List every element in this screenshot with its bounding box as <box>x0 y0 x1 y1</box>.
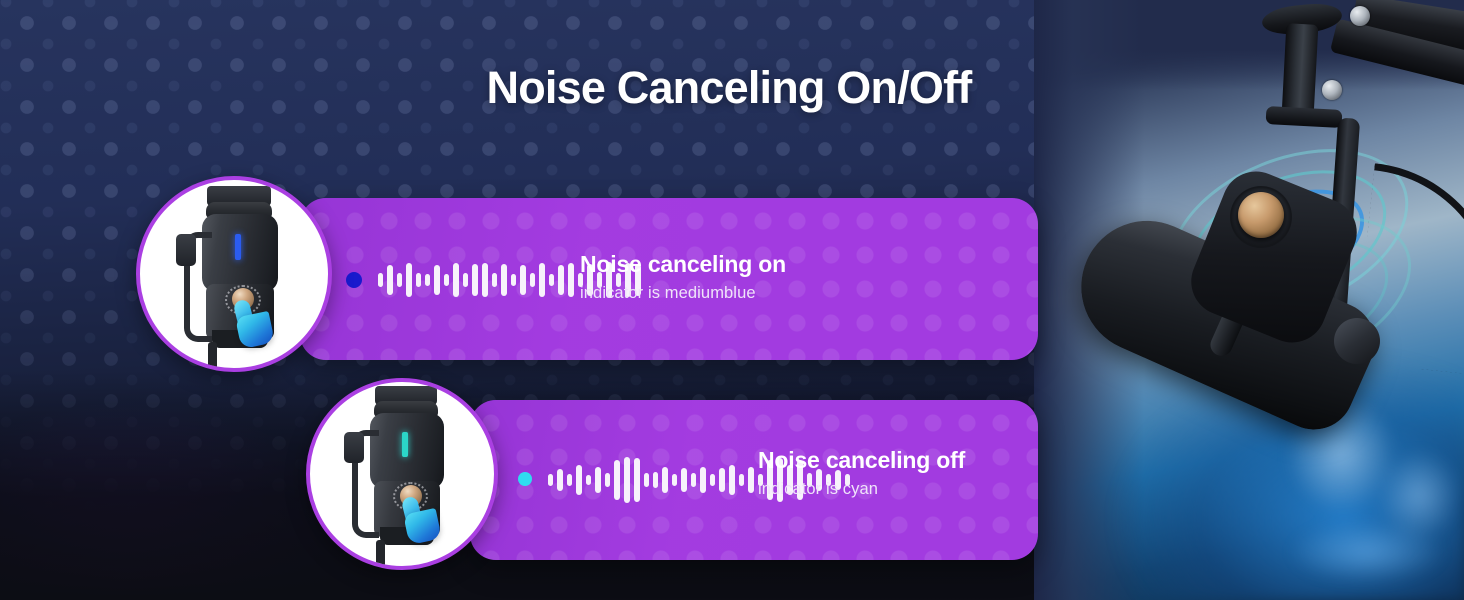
waveform-bar <box>378 273 383 287</box>
waveform-bar <box>748 467 754 493</box>
waveform-bar <box>700 467 706 493</box>
waveform-bar <box>558 265 564 295</box>
waveform-bar <box>662 467 668 493</box>
waveform-bar <box>492 273 497 287</box>
waveform-bar <box>595 467 601 493</box>
waveform-bar <box>482 263 488 297</box>
waveform-bar <box>644 473 649 487</box>
mic-led-cyan <box>402 432 408 457</box>
mic-thumb-on <box>136 176 332 372</box>
waveform-bar <box>605 473 610 487</box>
mic-thumb-off-illustration <box>310 382 494 566</box>
waveform-bar <box>586 475 591 485</box>
mic-thumb-on-illustration <box>140 180 328 368</box>
waveform-bar <box>453 263 459 297</box>
waveform-bar <box>539 263 545 297</box>
microphone-pivot-disc <box>1334 318 1380 364</box>
waveform-bar <box>567 474 572 486</box>
waveform-bar <box>614 460 620 500</box>
promo-banner: Noise Canceling On/Off Noise canceling o… <box>0 0 1464 600</box>
waveform-bar <box>397 273 402 287</box>
mic-stand-post <box>208 342 217 372</box>
waveform-bar <box>739 474 744 486</box>
waveform-bar <box>653 472 658 488</box>
waveform-bar <box>634 458 640 502</box>
sublabel-indicator-mediumblue: indicator is mediumblue <box>580 284 786 303</box>
waveform-bar <box>681 468 687 492</box>
waveform-bar <box>511 274 516 286</box>
waveform-bar <box>576 465 582 495</box>
waveform-bar <box>444 274 449 286</box>
status-dot-on <box>346 272 362 288</box>
mic-stand-post <box>376 540 385 570</box>
waveform-bar <box>530 273 535 287</box>
mic-yoke-knob <box>176 234 196 266</box>
label-noise-canceling-off: Noise canceling off <box>758 448 965 473</box>
waveform-bar <box>406 263 412 297</box>
status-dot-off <box>518 472 532 486</box>
waveform-bar <box>549 274 554 286</box>
label-noise-canceling-on: Noise canceling on <box>580 252 786 277</box>
mic-led-blue <box>235 234 241 260</box>
waveform-bar <box>557 469 563 491</box>
waveform-bar <box>729 465 735 495</box>
sublabel-indicator-cyan: indicator is cyan <box>758 480 965 499</box>
waveform-bar <box>463 273 468 287</box>
waveform-bar <box>719 468 725 492</box>
waveform-bar <box>624 457 630 503</box>
waveform-bar <box>691 473 696 487</box>
mic-yoke-knob <box>344 432 364 463</box>
waveform-bar <box>568 263 574 297</box>
waveform-bar <box>472 264 478 296</box>
waveform-bar <box>520 265 526 295</box>
waveform-bar <box>548 474 553 486</box>
text-block-off: Noise canceling off indicator is cyan <box>758 448 965 499</box>
waveform-bar <box>425 274 430 286</box>
waveform-bar <box>501 264 507 296</box>
mic-thumb-off <box>306 378 498 570</box>
microphone-copper-knob <box>1238 192 1284 238</box>
waveform-bar <box>434 265 440 295</box>
boom-arm-screw-top <box>1350 6 1370 26</box>
waveform-bar <box>416 273 421 287</box>
page-title-text: Noise Canceling On/Off <box>487 62 972 114</box>
text-block-on: Noise canceling on indicator is mediumbl… <box>580 252 786 303</box>
waveform-bar <box>672 474 677 486</box>
waveform-bar <box>710 474 715 486</box>
page-title: Noise Canceling On/Off <box>0 62 1464 114</box>
waveform-bar <box>387 265 393 295</box>
